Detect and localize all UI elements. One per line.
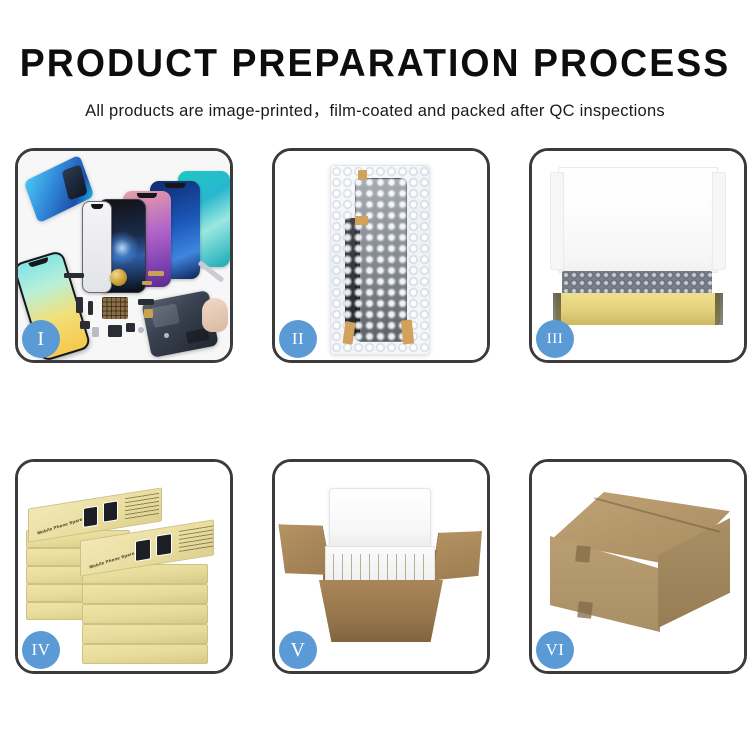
stacked-box <box>82 644 208 664</box>
carton-front-wall <box>319 580 443 642</box>
foam-sheet <box>566 195 710 267</box>
tape-piece <box>355 216 368 225</box>
spare-part <box>138 299 154 305</box>
step-badge-3: III <box>536 320 574 358</box>
spare-part <box>144 309 153 318</box>
hand-icon <box>202 298 228 332</box>
screw-part-icon <box>164 333 169 338</box>
phone-notch-icon <box>28 257 49 268</box>
packed-kraft-boxes <box>333 554 427 584</box>
screw-part-icon <box>138 327 144 333</box>
process-step-panel-6: VI <box>529 459 747 674</box>
box-stack: Mobile Phone Spare Parts Mobile Phone Sp… <box>24 488 230 658</box>
spare-part <box>92 327 99 337</box>
stacked-box <box>82 604 208 624</box>
phone-notch-icon <box>165 183 186 188</box>
tape-piece <box>401 319 414 344</box>
copper-coil-part-icon <box>110 269 127 286</box>
spare-part <box>76 297 83 313</box>
header: PRODUCT PREPARATION PROCESS All products… <box>0 0 750 121</box>
product-preparation-infographic: PRODUCT PREPARATION PROCESS All products… <box>0 0 750 750</box>
process-step-panel-3: III <box>529 148 747 363</box>
process-step-panel-4: Mobile Phone Spare Parts Mobile Phone Sp… <box>15 459 233 674</box>
spare-part <box>148 271 164 276</box>
process-step-panel-2: II <box>272 148 490 363</box>
box-label-spec-lines <box>179 526 213 553</box>
bubble-wrap-layer <box>562 271 712 295</box>
tape-piece <box>577 601 593 618</box>
step-badge-2: II <box>279 320 317 358</box>
stacked-box <box>82 624 208 644</box>
box-label-spec-lines <box>125 493 159 520</box>
spare-part <box>142 281 152 285</box>
box-label-phone-image <box>156 533 172 557</box>
spare-part <box>108 325 122 337</box>
tape-piece <box>575 545 591 562</box>
process-step-grid: I II <box>15 148 735 688</box>
step-badge-4: IV <box>22 631 60 669</box>
phone-notch-icon <box>91 204 103 209</box>
step-badge-1: I <box>22 320 60 358</box>
process-step-panel-1: I <box>15 148 233 363</box>
step-badge-6: VI <box>536 631 574 669</box>
carton-flap-right <box>431 525 484 587</box>
stacked-box <box>82 584 208 604</box>
page-subtitle: All products are image-printed，film-coat… <box>0 97 750 121</box>
process-step-panel-5: V <box>272 459 490 674</box>
styrofoam-lid <box>329 488 431 550</box>
box-label-phone-image <box>103 500 118 522</box>
phone-notch-icon <box>137 193 157 198</box>
page-title: PRODUCT PREPARATION PROCESS <box>15 44 735 83</box>
step-badge-5: V <box>279 631 317 669</box>
tape-piece <box>358 170 367 180</box>
spare-part <box>126 323 135 332</box>
bubble-wrap-bag <box>330 165 430 355</box>
kraft-box-base <box>556 293 720 325</box>
box-label-phone-image <box>135 538 151 562</box>
box-label-phone-image <box>83 506 98 528</box>
phone-screen-1 <box>82 201 112 293</box>
spare-part <box>64 273 84 278</box>
phone-notch-icon <box>112 202 131 207</box>
spare-part <box>88 301 93 315</box>
carton-flap-left <box>276 516 333 584</box>
spare-part <box>80 321 90 329</box>
chip-grid-part-icon <box>102 297 128 319</box>
